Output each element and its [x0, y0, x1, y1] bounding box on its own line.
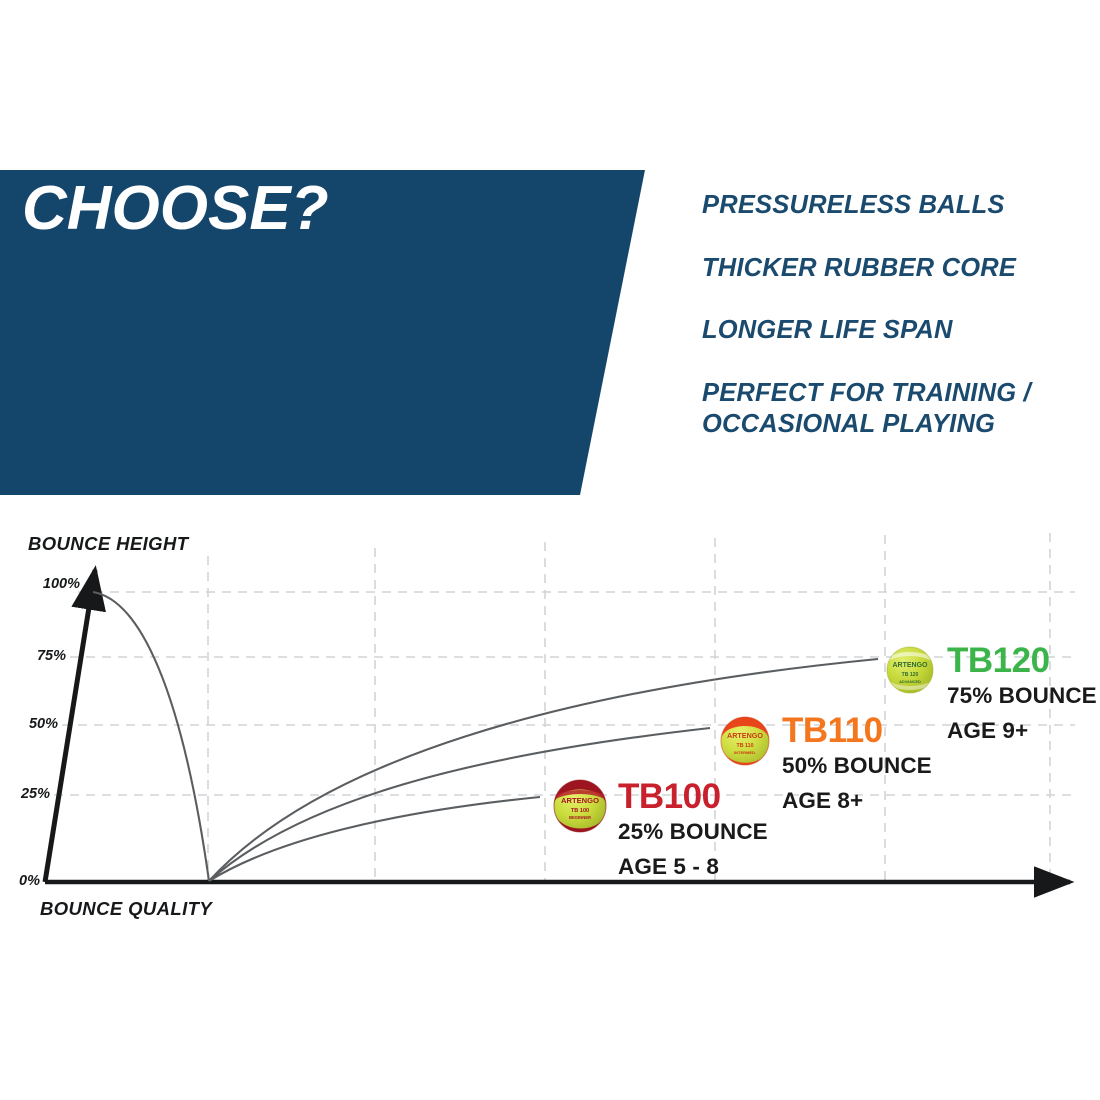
page-title-line-1: KIDS TENNIS BALLS — [22, 34, 622, 86]
svg-text:TB 100: TB 100 — [571, 808, 589, 814]
y-tick-25: 25% — [10, 786, 50, 802]
curve-drop-reference — [93, 592, 209, 881]
svg-text:TB 110: TB 110 — [736, 743, 753, 749]
ball-icon-tb100: ARTENGO TB 100 BEGINNER — [554, 775, 606, 838]
svg-text:BEGINNER: BEGINNER — [569, 815, 591, 820]
title-text-group: KIDS TENNIS BALLS WHICH ONE TO CHOOSE? — [22, 34, 622, 250]
svg-text:ARTENGO: ARTENGO — [893, 662, 929, 669]
svg-text:ADVANCED: ADVANCED — [899, 679, 921, 684]
page-title-line-3: CHOOSE? — [22, 168, 622, 250]
feature-item-pressureless: PRESSURELESS BALLS — [702, 190, 1092, 222]
svg-text:ARTENGO: ARTENGO — [561, 796, 599, 805]
svg-text:ARTENGO: ARTENGO — [727, 731, 763, 740]
svg-text:TB 120: TB 120 — [902, 672, 919, 678]
feature-item-rubber-core: THICKER RUBBER CORE — [702, 253, 1092, 285]
y-tick-50: 50% — [18, 716, 58, 732]
curve-tb120 — [209, 659, 878, 881]
svg-text:INTERMED.: INTERMED. — [734, 750, 756, 755]
product-bounce-tb100: 25% BOUNCE — [618, 817, 768, 846]
feature-list: PRESSURELESS BALLS THICKER RUBBER CORE L… — [702, 190, 1092, 441]
ball-icon-tb120: ARTENGO TB 120 ADVANCED — [887, 647, 933, 693]
product-callout-tb100: TB100 25% BOUNCE AGE 5 - 8 — [618, 780, 768, 881]
y-axis-label: BOUNCE HEIGHT — [28, 533, 188, 555]
page-title-line-2: WHICH ONE TO — [22, 86, 622, 168]
x-axis-label: BOUNCE QUALITY — [40, 898, 212, 920]
product-callout-tb120: TB120 75% BOUNCE AGE 9+ — [947, 644, 1097, 745]
product-bounce-tb110: 50% BOUNCE — [782, 751, 932, 780]
product-callout-tb110: TB110 50% BOUNCE AGE 8+ — [782, 714, 932, 815]
y-tick-100: 100% — [32, 576, 80, 592]
feature-item-training: PERFECT FOR TRAINING / OCCASIONAL PLAYIN… — [702, 378, 1092, 441]
y-tick-75: 75% — [26, 648, 66, 664]
feature-item-life-span: LONGER LIFE SPAN — [702, 315, 1092, 347]
product-name-tb100: TB100 — [618, 780, 768, 814]
y-tick-0: 0% — [8, 873, 40, 889]
ball-icon-tb110: ARTENGO TB 110 INTERMED. — [721, 712, 769, 772]
product-age-tb120: AGE 9+ — [947, 716, 1097, 745]
product-name-tb110: TB110 — [782, 714, 932, 748]
product-name-tb120: TB120 — [947, 644, 1097, 678]
product-age-tb110: AGE 8+ — [782, 786, 932, 815]
product-bounce-tb120: 75% BOUNCE — [947, 681, 1097, 710]
product-age-tb100: AGE 5 - 8 — [618, 852, 768, 881]
